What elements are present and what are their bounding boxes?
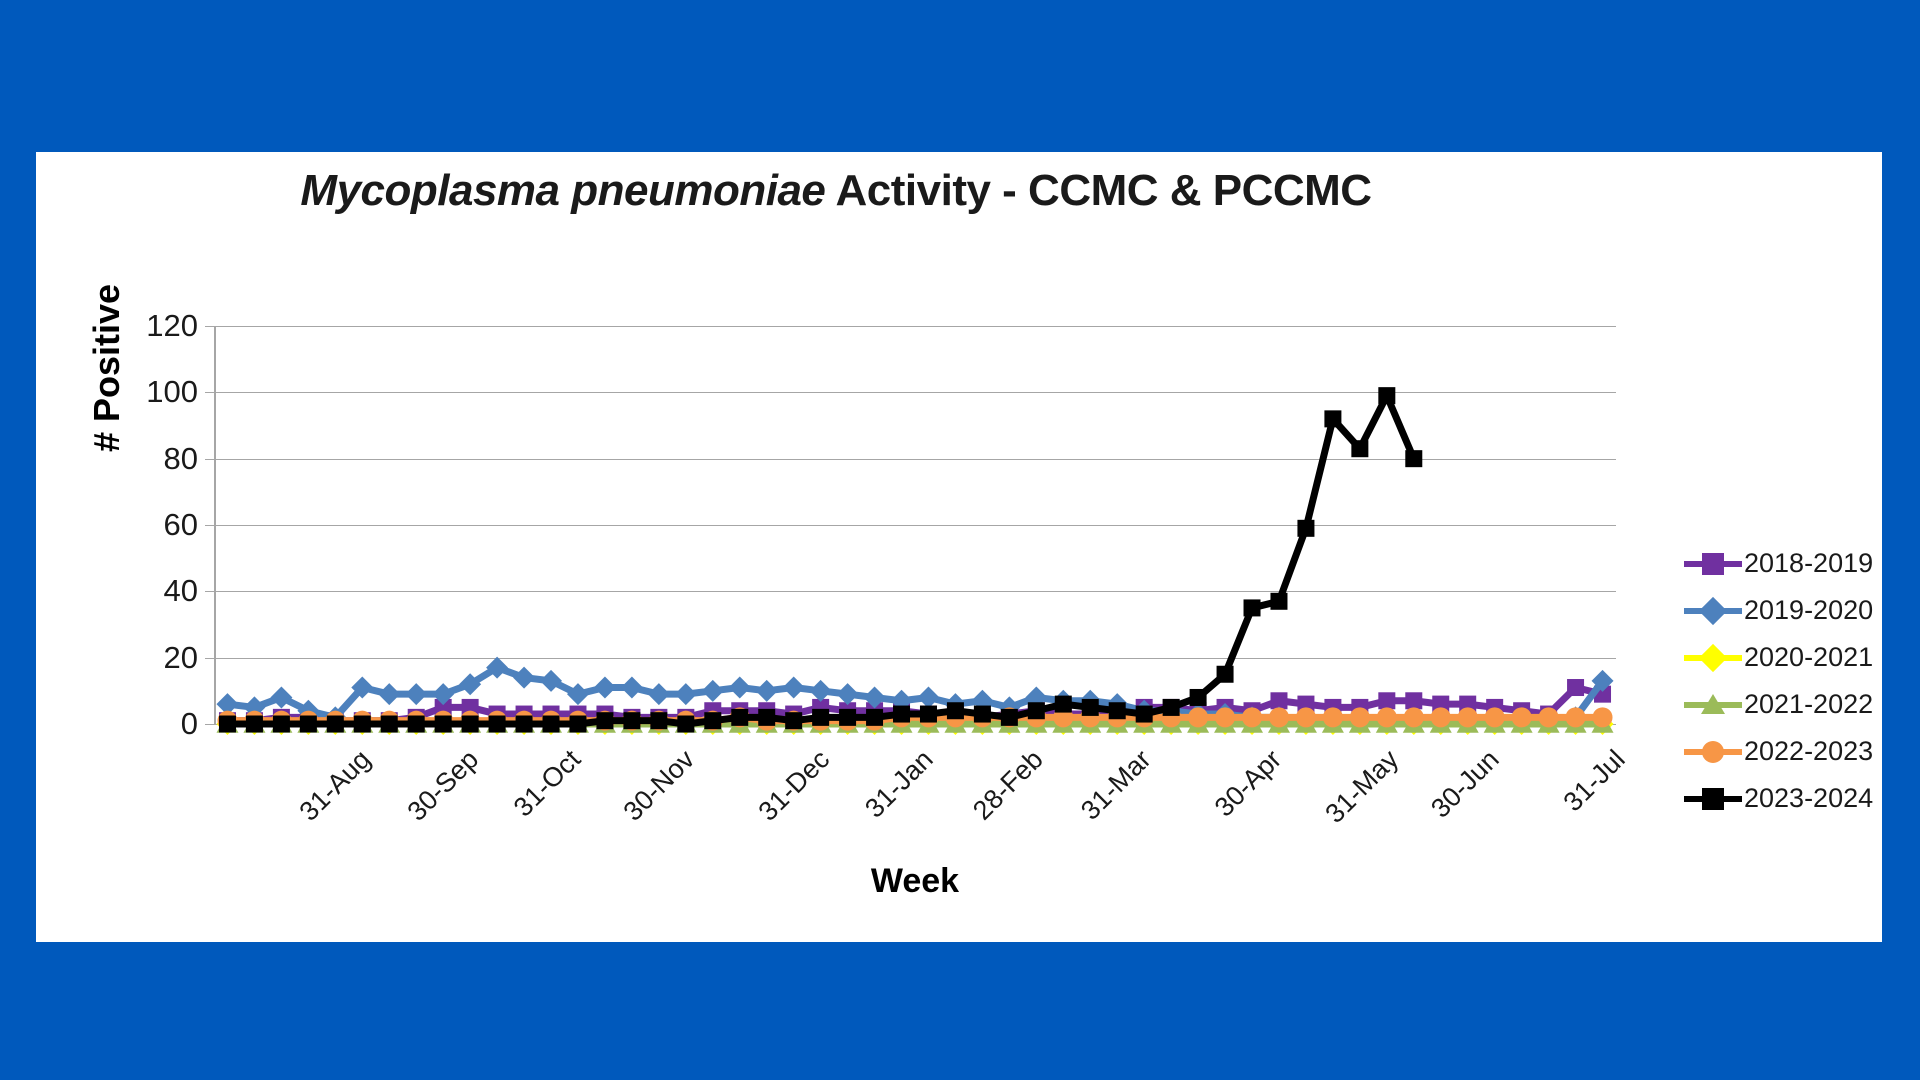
data-point-marker	[1405, 450, 1422, 467]
data-point-marker	[1566, 707, 1586, 727]
data-point-marker	[1377, 707, 1397, 727]
y-axis-tick-label: 40	[164, 573, 198, 609]
legend-marker-diamond-icon	[1699, 596, 1727, 624]
legend-label: 2020-2021	[1744, 642, 1873, 673]
y-axis-tick	[205, 326, 214, 327]
data-point-marker	[378, 683, 400, 705]
y-axis-tick	[205, 591, 214, 592]
data-point-marker	[1190, 689, 1207, 706]
x-axis-title: Week	[214, 862, 1616, 901]
data-point-marker	[1485, 707, 1505, 727]
data-point-marker	[1378, 692, 1395, 709]
y-axis-title: # Positive	[86, 284, 128, 452]
data-point-marker	[974, 706, 991, 723]
data-point-marker	[1512, 707, 1532, 727]
data-point-marker	[1001, 709, 1018, 726]
x-axis-tick-label: 31-Jul	[1557, 744, 1631, 818]
y-axis-tick-label: 60	[164, 507, 198, 543]
x-axis-tick-label: 31-Oct	[508, 744, 587, 823]
data-point-marker	[621, 677, 643, 699]
data-point-marker	[1188, 707, 1208, 727]
legend-marker-icon	[1684, 740, 1742, 764]
data-point-marker	[405, 683, 427, 705]
data-point-marker	[1242, 707, 1262, 727]
data-point-marker	[1297, 520, 1314, 537]
data-point-marker	[1458, 707, 1478, 727]
data-point-marker	[866, 709, 883, 726]
data-point-marker	[729, 677, 751, 699]
x-axis-tick-label: 31-Aug	[294, 744, 377, 827]
data-point-marker	[677, 716, 694, 733]
series-line	[227, 396, 1413, 724]
data-point-marker	[354, 716, 371, 733]
plot-area: 020406080100120	[214, 326, 1616, 724]
data-point-marker	[1163, 699, 1180, 716]
plot-wrapper: # Positive 020406080100120 31-Aug30-Sep3…	[36, 152, 1882, 942]
data-point-marker	[1350, 707, 1370, 727]
page-root: Mycoplasma pneumoniae Activity - CCMC & …	[0, 0, 1920, 1080]
data-point-marker	[567, 683, 589, 705]
data-point-marker	[273, 716, 290, 733]
series-plot	[214, 326, 1616, 724]
y-axis-tick-label: 100	[146, 374, 198, 410]
legend-item-2021-2022[interactable]: 2021-2022	[1684, 681, 1884, 728]
data-point-marker	[758, 709, 775, 726]
data-point-marker	[812, 709, 829, 726]
y-axis-tick	[205, 392, 214, 393]
data-point-marker	[408, 716, 425, 733]
legend-marker-square-icon	[1702, 788, 1724, 810]
data-point-marker	[1217, 666, 1234, 683]
data-point-marker	[1269, 707, 1289, 727]
data-point-marker	[1323, 707, 1343, 727]
data-point-marker	[648, 683, 670, 705]
data-point-marker	[462, 716, 479, 733]
legend-item-2023-2024[interactable]: 2023-2024	[1684, 775, 1884, 822]
data-point-marker	[704, 712, 721, 729]
data-point-marker	[675, 683, 697, 705]
data-point-marker	[516, 716, 533, 733]
data-point-marker	[839, 709, 856, 726]
data-point-marker	[650, 712, 667, 729]
data-point-marker	[1324, 410, 1341, 427]
y-axis-tick-label: 80	[164, 441, 198, 477]
legend-label: 2021-2022	[1744, 689, 1873, 720]
data-point-marker	[1136, 706, 1153, 723]
data-point-marker	[1109, 702, 1126, 719]
data-point-marker	[513, 667, 535, 689]
data-point-marker	[1378, 387, 1395, 404]
data-point-marker	[1567, 679, 1584, 696]
y-axis-tick-label: 20	[164, 640, 198, 676]
chart-card: Mycoplasma pneumoniae Activity - CCMC & …	[36, 152, 1882, 942]
legend-label: 2019-2020	[1744, 595, 1873, 626]
legend-marker-diamond-icon	[1699, 643, 1727, 671]
data-point-marker	[785, 712, 802, 729]
x-axis-tick-label: 30-Sep	[402, 744, 485, 827]
x-axis-tick-label: 31-Dec	[752, 744, 835, 827]
data-point-marker	[947, 702, 964, 719]
data-point-marker	[246, 716, 263, 733]
legend-marker-icon	[1684, 787, 1742, 811]
x-axis-tick-label: 30-Apr	[1209, 744, 1288, 823]
legend-marker-icon	[1684, 646, 1742, 670]
legend-label: 2018-2019	[1744, 548, 1873, 579]
data-point-marker	[702, 680, 724, 702]
y-axis-tick	[205, 724, 214, 725]
data-point-marker	[300, 716, 317, 733]
data-point-marker	[623, 712, 640, 729]
y-axis-tick-label: 0	[181, 706, 198, 742]
data-point-marker	[1539, 707, 1559, 727]
data-point-marker	[435, 716, 452, 733]
data-point-marker	[1028, 702, 1045, 719]
data-point-marker	[489, 716, 506, 733]
data-point-marker	[327, 716, 344, 733]
data-point-marker	[837, 683, 859, 705]
data-point-marker	[270, 686, 292, 708]
data-point-marker	[731, 709, 748, 726]
data-point-marker	[569, 716, 586, 733]
data-point-marker	[1055, 696, 1072, 713]
data-point-marker	[1431, 707, 1451, 727]
data-point-marker	[1244, 599, 1261, 616]
x-axis-tick-label: 31-Jan	[859, 744, 939, 824]
legend-item-2020-2021[interactable]: 2020-2021	[1684, 634, 1884, 681]
legend-label: 2023-2024	[1744, 783, 1873, 814]
y-axis-tick-label: 120	[146, 308, 198, 344]
data-point-marker	[594, 677, 616, 699]
legend-item-2022-2023[interactable]: 2022-2023	[1684, 728, 1884, 775]
data-point-marker	[917, 686, 939, 708]
data-point-marker	[810, 680, 832, 702]
data-point-marker	[1404, 707, 1424, 727]
data-point-marker	[920, 706, 937, 723]
legend-marker-icon	[1684, 599, 1742, 623]
legend-marker-icon	[1684, 693, 1742, 717]
data-point-marker	[1215, 707, 1235, 727]
x-axis-tick-label: 31-Mar	[1075, 744, 1157, 826]
legend-marker-square-icon	[1702, 553, 1724, 575]
x-axis-tick-label: 30-Jun	[1425, 744, 1505, 824]
data-point-marker	[1405, 692, 1422, 709]
data-point-marker	[219, 716, 236, 733]
data-point-marker	[1270, 593, 1287, 610]
data-point-marker	[1082, 699, 1099, 716]
legend-marker-icon	[1684, 552, 1742, 576]
legend-marker-circle-icon	[1702, 741, 1724, 763]
legend-marker-triangle-icon	[1701, 694, 1725, 714]
data-point-marker	[1593, 707, 1613, 727]
data-point-marker	[596, 712, 613, 729]
data-point-marker	[1296, 707, 1316, 727]
legend-item-2018-2019[interactable]: 2018-2019	[1684, 540, 1884, 587]
legend-label: 2022-2023	[1744, 736, 1873, 767]
chart-legend: 2018-20192019-20202020-20212021-20222022…	[1684, 540, 1884, 822]
data-point-marker	[783, 677, 805, 699]
y-axis-tick	[205, 525, 214, 526]
y-axis-tick	[205, 459, 214, 460]
x-axis-tick-label: 28-Feb	[968, 744, 1050, 826]
data-point-marker	[543, 716, 560, 733]
data-point-marker	[540, 670, 562, 692]
legend-item-2019-2020[interactable]: 2019-2020	[1684, 587, 1884, 634]
data-point-marker	[1351, 440, 1368, 457]
y-axis-tick	[205, 658, 214, 659]
x-axis-tick-label: 30-Nov	[617, 744, 700, 827]
x-axis-tick-label: 31-May	[1319, 744, 1405, 830]
data-point-marker	[756, 680, 778, 702]
data-point-marker	[893, 706, 910, 723]
data-point-marker	[381, 716, 398, 733]
